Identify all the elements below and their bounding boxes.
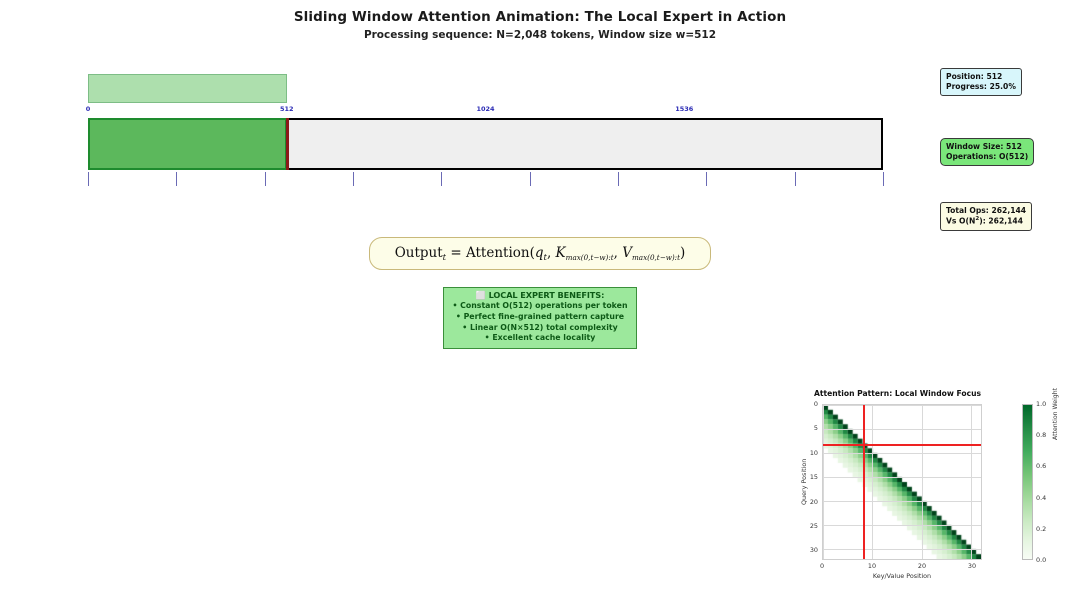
heatmap-ytick-label: 30 xyxy=(810,546,818,554)
colorbar-label: Attention Weight xyxy=(1052,388,1059,440)
formula-output: Output xyxy=(395,245,443,261)
annotation-position-line1: Position: 512 xyxy=(946,72,1016,82)
axis-tick xyxy=(706,172,707,186)
colorbar-tick-label: 0.4 xyxy=(1036,494,1046,502)
heatmap-gridline-h xyxy=(823,429,981,430)
formula-close-paren: ) xyxy=(680,245,685,261)
heatmap-xtick-label: 20 xyxy=(918,562,926,570)
axis-tick-label-1536: 1536 xyxy=(675,105,693,113)
axis-tick xyxy=(265,172,266,186)
axis-tick xyxy=(795,172,796,186)
benefits-item: • Perfect fine-grained pattern capture xyxy=(444,312,636,323)
heatmap-ytick-label: 20 xyxy=(810,498,818,506)
ops-suffix: ): 262,144 xyxy=(979,217,1023,226)
heatmap-title-part2: Focus xyxy=(954,389,981,398)
colorbar-tick-label: 0.2 xyxy=(1036,525,1046,533)
heatmap-ytick-label: 0 xyxy=(814,400,818,408)
heatmap-xtick-label: 30 xyxy=(968,562,976,570)
heatmap-ytick-label: 25 xyxy=(810,522,818,530)
colorbar-tick-label: 0.0 xyxy=(1036,556,1046,564)
heatmap-ylabel: Query Position xyxy=(800,459,808,505)
annotation-window-line1: Window Size: 512 xyxy=(946,142,1028,152)
ops-prefix: Vs O(N xyxy=(946,217,975,226)
annotation-ops-line1: Total Ops: 262,144 xyxy=(946,206,1026,216)
heatmap-cursor-hline xyxy=(823,444,981,446)
colorbar-tick-label: 1.0 xyxy=(1036,400,1046,408)
heatmap-gridline-h xyxy=(823,549,981,550)
attention-formula-box: Outputt = Attention(qt, Kmax(0,t−w):t, V… xyxy=(369,237,711,270)
annotation-window: Window Size: 512 Operations: O(512) xyxy=(940,138,1034,166)
axis-tick-label-512: 512 xyxy=(280,105,294,113)
attention-heatmap[interactable] xyxy=(822,404,982,560)
axis-tick-label-0: 0 xyxy=(86,105,91,113)
axis-tick xyxy=(441,172,442,186)
formula-K-sub: max(0,t−w):t xyxy=(566,253,614,262)
colorbar-tick-label: 0.8 xyxy=(1036,431,1046,439)
page-subtitle: Processing sequence: N=2,048 tokens, Win… xyxy=(0,29,1080,41)
formula-K: K xyxy=(556,245,566,261)
heatmap-xtick-label: 10 xyxy=(868,562,876,570)
benefits-heading: ⬜ LOCAL EXPERT BENEFITS: xyxy=(444,290,636,301)
benefits-item: • Linear O(N×512) total complexity xyxy=(444,323,636,334)
current-position-marker xyxy=(286,118,289,170)
progress-fill xyxy=(88,74,287,103)
app-root: Sliding Window Attention Animation: The … xyxy=(0,0,1080,600)
heatmap-xlabel: Key/Value Position xyxy=(873,572,931,580)
benefits-item: • Excellent cache locality xyxy=(444,333,636,344)
heatmap-ytick-label: 10 xyxy=(810,449,818,457)
heatmap-title-bold: Local Window xyxy=(895,389,954,398)
heatmap-gridline-h xyxy=(823,477,981,478)
heatmap-gridline-h xyxy=(823,501,981,502)
heatmap-ytick-label: 15 xyxy=(810,473,818,481)
benefits-box: ⬜ LOCAL EXPERT BENEFITS: • Constant O(51… xyxy=(443,287,637,349)
formula-q: q xyxy=(535,245,544,261)
heatmap-gridline-h xyxy=(823,405,981,406)
axis-tick xyxy=(88,172,89,186)
heatmap-title-part1: Attention Pattern: xyxy=(814,389,895,398)
heatmap-cursor-vline xyxy=(863,405,865,559)
annotation-ops-line2: Vs O(N2): 262,144 xyxy=(946,216,1026,227)
annotation-position: Position: 512 Progress: 25.0% xyxy=(940,68,1022,96)
formula-V-sub: max(0,t−w):t xyxy=(632,253,680,262)
heatmap-gridline-h xyxy=(823,453,981,454)
formula-expression: Outputt = Attention(qt, Kmax(0,t−w):t, V… xyxy=(395,245,686,263)
benefits-item: • Constant O(512) operations per token xyxy=(444,301,636,312)
formula-eq: = Attention( xyxy=(446,245,535,261)
formula-V: V xyxy=(622,245,632,261)
axis-tick xyxy=(618,172,619,186)
heatmap-ytick-label: 5 xyxy=(814,424,818,432)
axis-tick xyxy=(353,172,354,186)
formula-comma-2: , xyxy=(614,245,623,261)
annotation-window-line2: Operations: O(512) xyxy=(946,152,1028,162)
annotation-position-line2: Progress: 25.0% xyxy=(946,82,1016,92)
formula-comma-1: , xyxy=(547,245,556,261)
axis-tick-label-1024: 1024 xyxy=(476,105,494,113)
axis-tick xyxy=(883,172,884,186)
heatmap-title: Attention Pattern: Local Window Focus xyxy=(800,389,995,398)
sliding-window-block[interactable] xyxy=(88,118,287,170)
annotation-total-ops: Total Ops: 262,144 Vs O(N2): 262,144 xyxy=(940,202,1032,231)
colorbar xyxy=(1022,404,1033,560)
heatmap-xtick-label: 0 xyxy=(820,562,824,570)
colorbar-tick-label: 0.6 xyxy=(1036,462,1046,470)
page-title: Sliding Window Attention Animation: The … xyxy=(0,9,1080,25)
axis-tick xyxy=(176,172,177,186)
axis-tick xyxy=(530,172,531,186)
heatmap-gridline-h xyxy=(823,525,981,526)
